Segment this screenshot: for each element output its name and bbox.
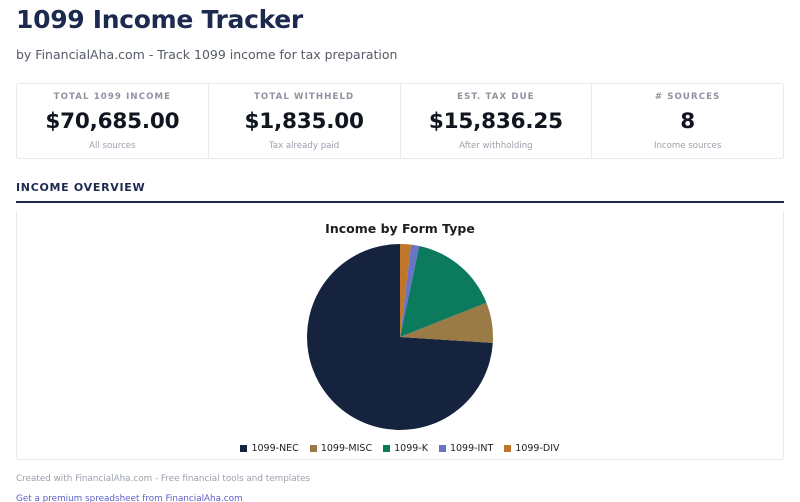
stat-value: 8 [680, 109, 695, 135]
stat-value: $70,685.00 [45, 109, 179, 135]
legend-item-1099-div: 1099-DIV [504, 443, 559, 454]
footer: Created with FinancialAha.com - Free fin… [16, 473, 784, 502]
stat-card-total-withheld: TOTAL WITHHELD $1,835.00 Tax already pai… [209, 84, 401, 158]
stat-value: $15,836.25 [429, 109, 563, 135]
stat-label: EST. TAX DUE [457, 91, 535, 103]
page-title: 1099 Income Tracker [16, 0, 784, 35]
stat-label: # SOURCES [655, 91, 721, 103]
stat-sublabel: All sources [89, 141, 135, 152]
legend-label: 1099-INT [450, 443, 493, 454]
legend-item-1099-int: 1099-INT [439, 443, 493, 454]
legend-item-1099-k: 1099-K [383, 443, 428, 454]
pie-chart [17, 243, 783, 433]
app-root: 1099 Income Tracker by FinancialAha.com … [0, 0, 800, 502]
legend-swatch-icon [383, 445, 390, 452]
stat-card-total-income: TOTAL 1099 INCOME $70,685.00 All sources [17, 84, 209, 158]
premium-spreadsheet-link[interactable]: Get a premium spreadsheet from Financial… [16, 493, 243, 502]
stat-value: $1,835.00 [244, 109, 363, 135]
stat-sublabel: Tax already paid [269, 141, 339, 152]
stat-label: TOTAL 1099 INCOME [54, 91, 172, 103]
page-subtitle: by FinancialAha.com - Track 1099 income … [16, 47, 784, 63]
stat-sublabel: Income sources [654, 141, 721, 152]
legend-swatch-icon [504, 445, 511, 452]
chart-card: Income by Form Type 1099-NEC1099-MISC109… [16, 211, 784, 460]
legend-label: 1099-K [394, 443, 428, 454]
pie-chart-svg [306, 243, 494, 431]
legend-label: 1099-NEC [251, 443, 298, 454]
legend-label: 1099-MISC [321, 443, 372, 454]
chart-title: Income by Form Type [17, 211, 783, 237]
legend-swatch-icon [240, 445, 247, 452]
legend-item-1099-nec: 1099-NEC [240, 443, 298, 454]
legend-label: 1099-DIV [515, 443, 559, 454]
stat-label: TOTAL WITHHELD [254, 91, 354, 103]
legend-item-1099-misc: 1099-MISC [310, 443, 372, 454]
stat-sublabel: After withholding [459, 141, 532, 152]
chart-legend: 1099-NEC1099-MISC1099-K1099-INT1099-DIV [17, 443, 783, 454]
stats-row: TOTAL 1099 INCOME $70,685.00 All sources… [16, 83, 784, 159]
legend-swatch-icon [310, 445, 317, 452]
section-heading-income-overview: INCOME OVERVIEW [16, 181, 784, 203]
legend-swatch-icon [439, 445, 446, 452]
footer-note: Created with FinancialAha.com - Free fin… [16, 473, 784, 485]
stat-card-sources: # SOURCES 8 Income sources [592, 84, 783, 158]
stat-card-est-tax-due: EST. TAX DUE $15,836.25 After withholdin… [401, 84, 593, 158]
